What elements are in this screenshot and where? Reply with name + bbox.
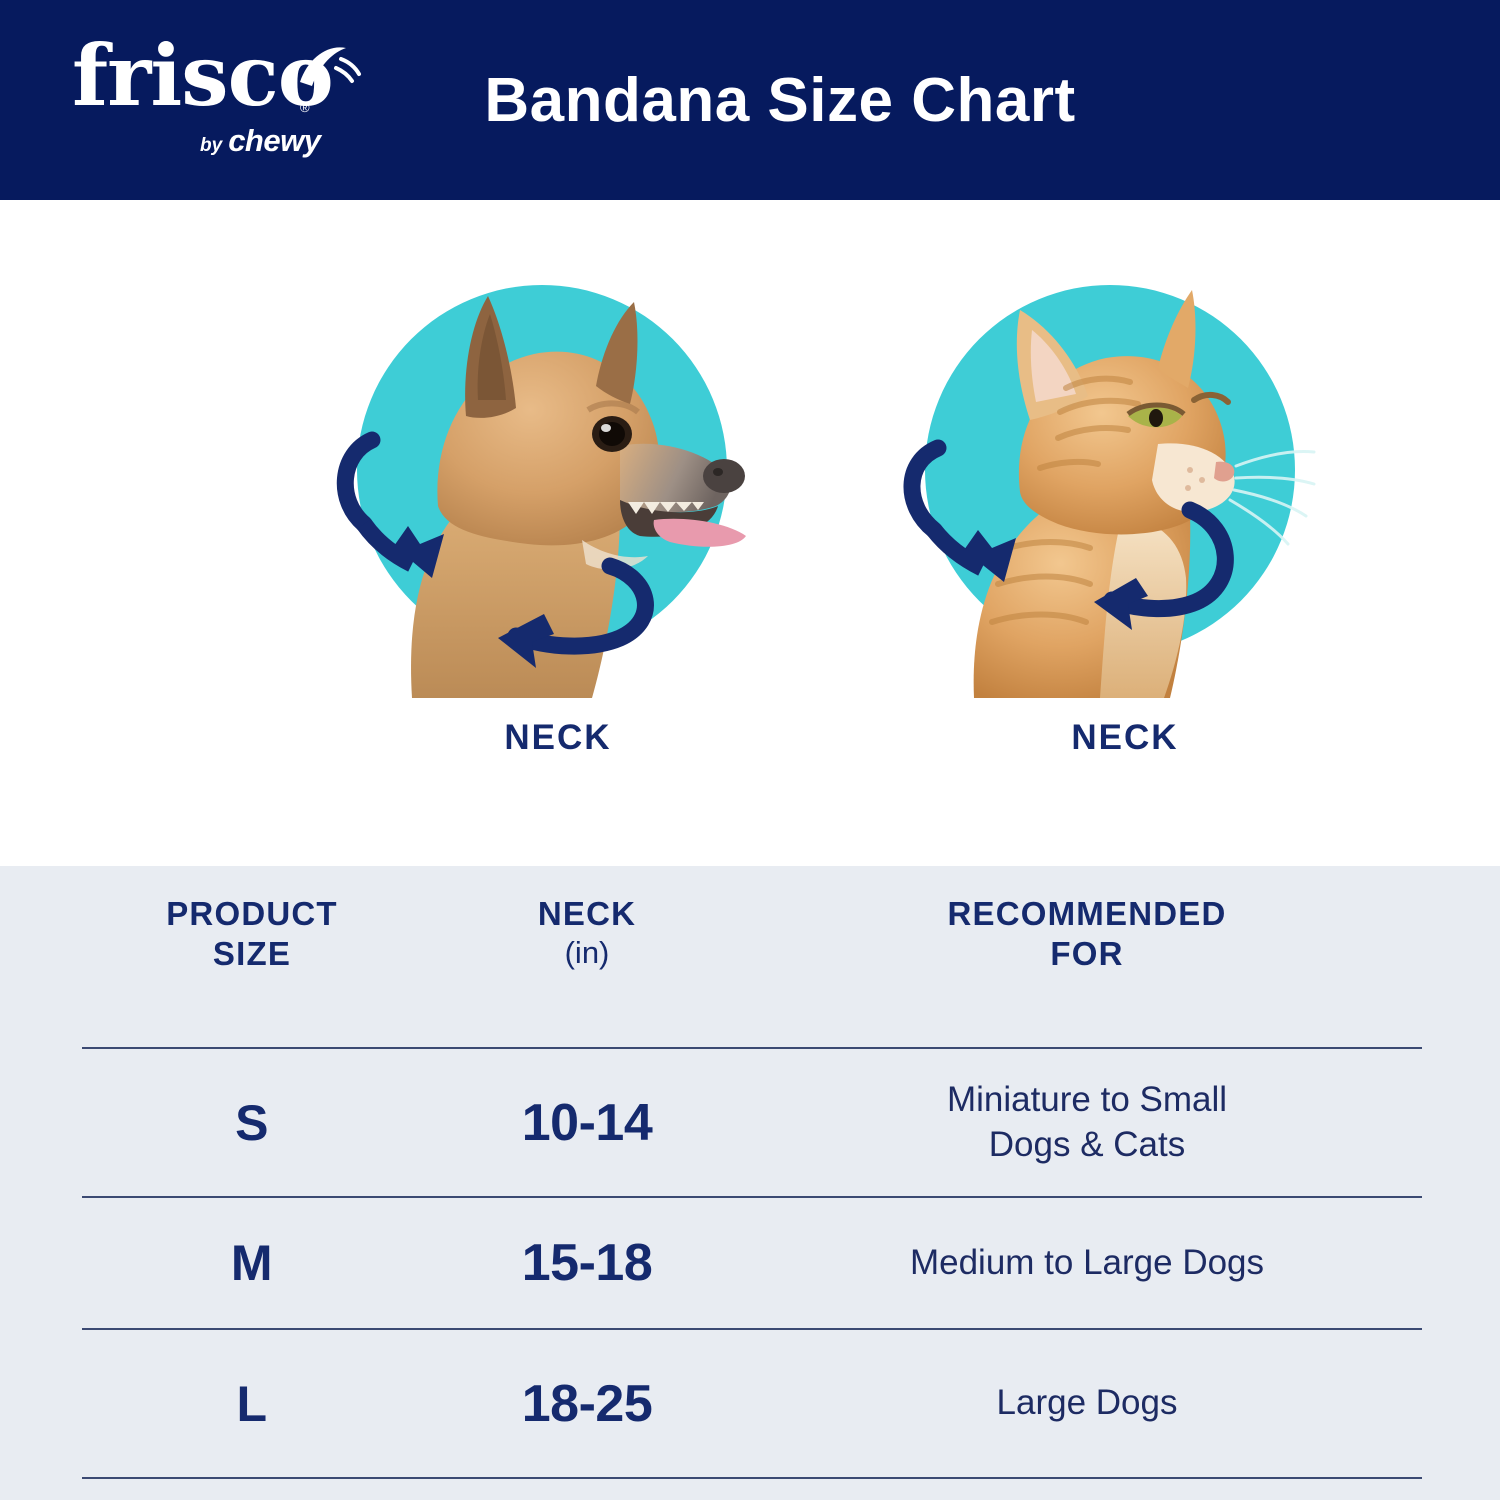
dog-neck-label: NECK <box>290 718 790 758</box>
table-row: S 10-14 Miniature to SmallDogs & Cats <box>82 1049 1422 1196</box>
column-header-product-size: PRODUCT SIZE <box>82 894 422 975</box>
page-title: Bandana Size Chart <box>0 0 1500 200</box>
cell-neck: 18-25 <box>422 1374 752 1434</box>
column-header-neck: NECK (in) <box>422 894 752 972</box>
cat-neck-measure-illustration <box>890 248 1330 698</box>
cell-size: L <box>82 1375 422 1433</box>
cell-neck: 15-18 <box>422 1233 752 1293</box>
table-header-row: PRODUCT SIZE NECK (in) RECOMMENDED FOR <box>82 866 1422 1047</box>
size-table: PRODUCT SIZE NECK (in) RECOMMENDED FOR S <box>82 866 1422 1500</box>
cell-neck: 10-14 <box>422 1093 752 1153</box>
cat-neck-label: NECK <box>860 718 1360 758</box>
table-row: L 18-25 Large Dogs <box>82 1330 1422 1477</box>
cell-size: S <box>82 1094 422 1152</box>
table-row: M 15-18 Medium to Large Dogs <box>82 1198 1422 1328</box>
dog-illustration-block: NECK <box>290 248 790 828</box>
cell-recommended: Large Dogs <box>752 1381 1422 1426</box>
page-header: frisco ® by chewy Bandana Size Chart <box>0 0 1500 200</box>
table-divider-bottom <box>82 1477 1422 1479</box>
cat-figure <box>890 248 1330 698</box>
dog-figure <box>320 248 760 698</box>
size-chart-page: frisco ® by chewy Bandana Size Chart <box>0 0 1500 1500</box>
cell-recommended: Miniature to SmallDogs & Cats <box>752 1078 1422 1168</box>
dog-neck-measure-illustration <box>320 248 760 698</box>
cell-recommended: Medium to Large Dogs <box>752 1241 1422 1286</box>
size-table-section: PRODUCT SIZE NECK (in) RECOMMENDED FOR S <box>0 866 1500 1500</box>
cat-illustration-block: NECK <box>860 248 1360 828</box>
cell-size: M <box>82 1234 422 1292</box>
illustration-section: NECK <box>0 200 1500 866</box>
column-header-recommended-for: RECOMMENDED FOR <box>752 894 1422 975</box>
